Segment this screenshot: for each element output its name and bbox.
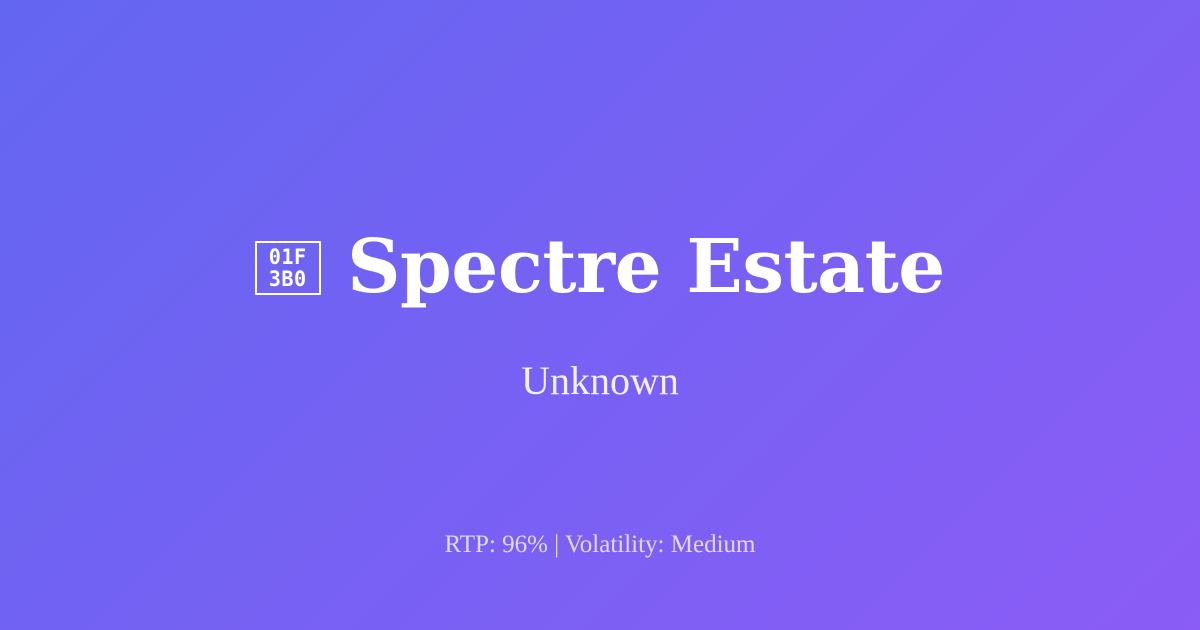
title-row: 01F 3B0 Spectre Estate xyxy=(255,225,945,309)
game-stats: RTP: 96% | Volatility: Medium xyxy=(0,530,1200,560)
provider-name: Unknown xyxy=(521,309,679,405)
tofu-codepoint-line-1: 01F xyxy=(269,246,307,268)
slot-machine-icon: 01F 3B0 xyxy=(255,241,321,295)
tofu-codepoint-line-2: 3B0 xyxy=(269,268,307,290)
game-title: Spectre Estate xyxy=(347,225,945,309)
game-og-card: 01F 3B0 Spectre Estate Unknown RTP: 96% … xyxy=(0,0,1200,630)
